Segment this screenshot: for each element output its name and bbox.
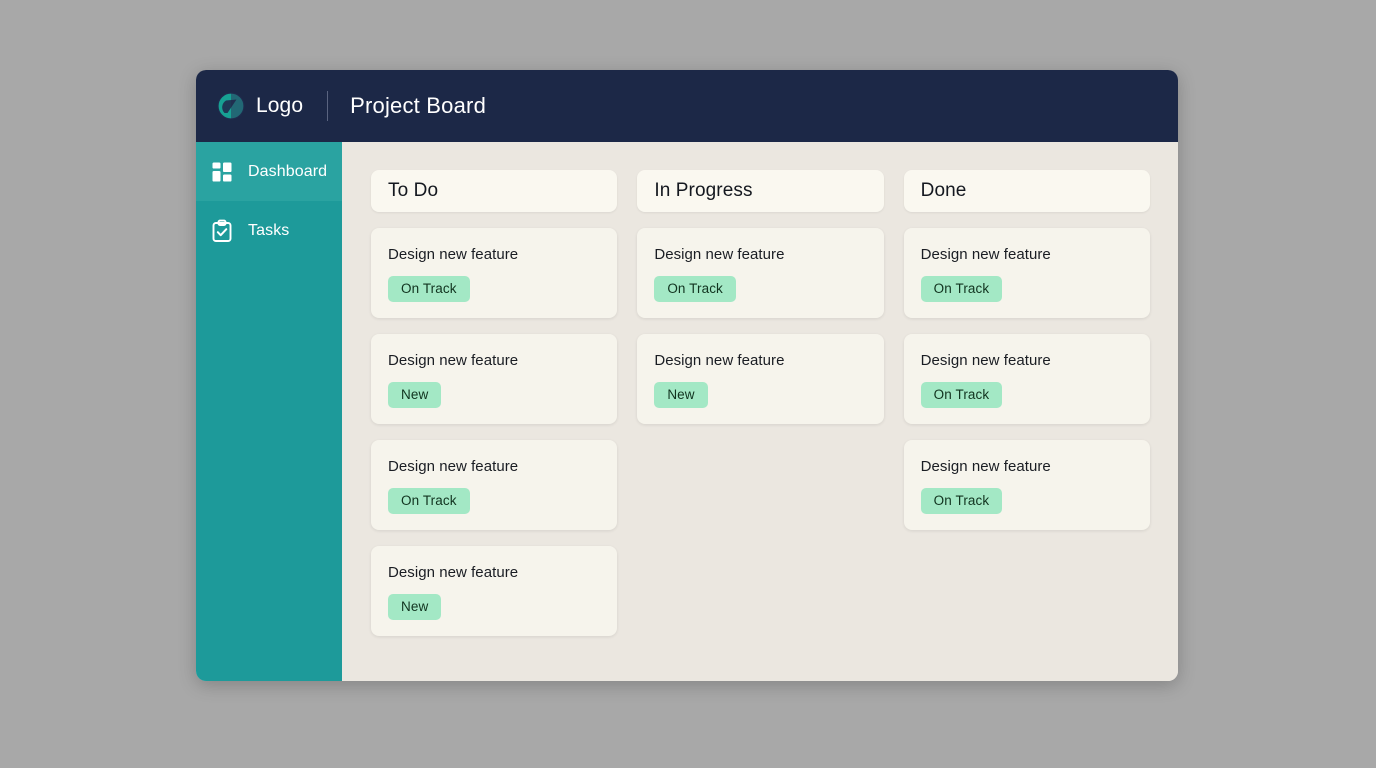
status-badge: New xyxy=(654,382,707,408)
task-card-title: Design new feature xyxy=(654,246,866,263)
task-card-title: Design new feature xyxy=(921,246,1133,263)
task-card-title: Design new feature xyxy=(388,352,600,369)
task-card-title: Design new feature xyxy=(654,352,866,369)
status-badge: On Track xyxy=(921,276,1003,302)
board-column-todo: To Do Design new feature On Track Design… xyxy=(371,170,617,636)
app-header: Logo Project Board xyxy=(196,70,1178,142)
status-badge: On Track xyxy=(921,382,1003,408)
board-column-done: Done Design new feature On Track Design … xyxy=(904,170,1150,530)
task-card[interactable]: Design new feature On Track xyxy=(371,440,617,530)
task-card-title: Design new feature xyxy=(388,246,600,263)
task-card[interactable]: Design new feature On Track xyxy=(904,228,1150,318)
task-card[interactable]: Design new feature On Track xyxy=(904,334,1150,424)
kanban-board: To Do Design new feature On Track Design… xyxy=(342,142,1178,681)
sidebar-item-tasks[interactable]: Tasks xyxy=(196,201,342,260)
sidebar: Dashboard Tasks xyxy=(196,142,342,681)
brand[interactable]: Logo xyxy=(217,92,303,120)
board-column-in-progress: In Progress Design new feature On Track … xyxy=(637,170,883,424)
task-card[interactable]: Design new feature New xyxy=(371,334,617,424)
task-card[interactable]: Design new feature New xyxy=(637,334,883,424)
clipboard-check-icon xyxy=(210,219,234,243)
column-title: Done xyxy=(921,180,967,202)
column-header[interactable]: In Progress xyxy=(637,170,883,212)
status-badge: New xyxy=(388,382,441,408)
sidebar-item-dashboard[interactable]: Dashboard xyxy=(196,142,342,201)
task-card-title: Design new feature xyxy=(388,458,600,475)
sidebar-item-label: Dashboard xyxy=(248,163,327,181)
brand-name: Logo xyxy=(256,94,303,118)
column-title: To Do xyxy=(388,180,438,202)
task-card[interactable]: Design new feature On Track xyxy=(637,228,883,318)
task-card-title: Design new feature xyxy=(921,352,1133,369)
task-card[interactable]: Design new feature On Track xyxy=(371,228,617,318)
status-badge: On Track xyxy=(921,488,1003,514)
task-card[interactable]: Design new feature New xyxy=(371,546,617,636)
status-badge: New xyxy=(388,594,441,620)
task-card-title: Design new feature xyxy=(388,564,600,581)
sidebar-item-label: Tasks xyxy=(248,222,289,240)
app-window: Logo Project Board Dashboard xyxy=(196,70,1178,681)
column-header[interactable]: To Do xyxy=(371,170,617,212)
header-divider xyxy=(327,91,328,121)
logo-circle-swoosh-icon xyxy=(217,92,245,120)
grid-dashboard-icon xyxy=(210,160,234,184)
status-badge: On Track xyxy=(388,488,470,514)
task-card[interactable]: Design new feature On Track xyxy=(904,440,1150,530)
app-body: Dashboard Tasks To Do xyxy=(196,142,1178,681)
column-title: In Progress xyxy=(654,180,752,202)
status-badge: On Track xyxy=(654,276,736,302)
page-title: Project Board xyxy=(350,93,486,119)
task-card-title: Design new feature xyxy=(921,458,1133,475)
column-header[interactable]: Done xyxy=(904,170,1150,212)
status-badge: On Track xyxy=(388,276,470,302)
